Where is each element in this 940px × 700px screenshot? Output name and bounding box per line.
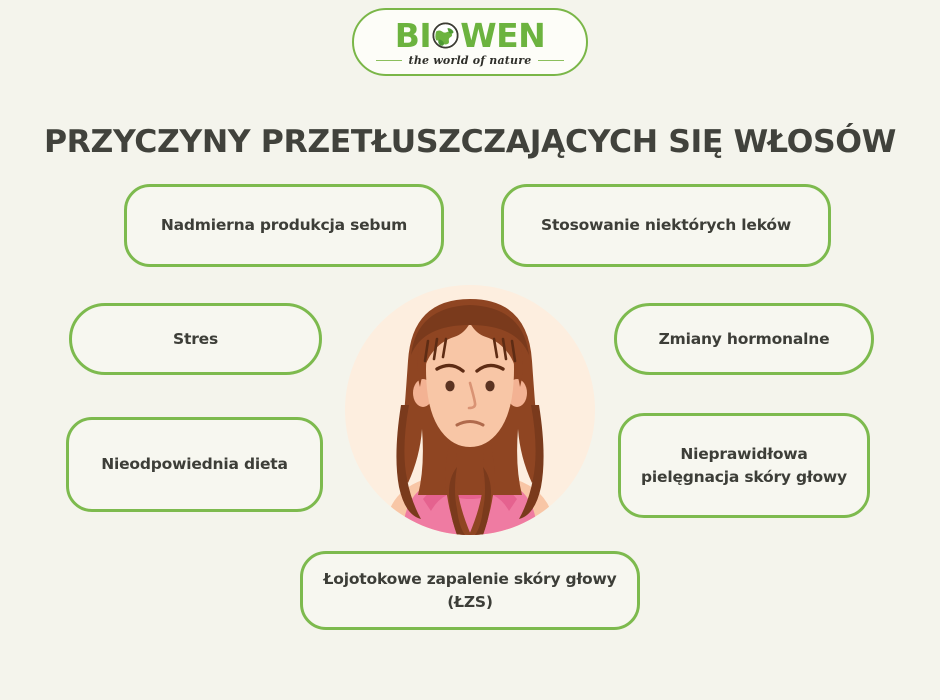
- cause-label: Nieodpowiednia dieta: [101, 453, 288, 475]
- cause-box-dieta: Nieodpowiednia dieta: [66, 417, 323, 512]
- eye-left: [445, 381, 454, 392]
- cause-label: Stres: [173, 328, 218, 350]
- cause-box-pielegnacja: Nieprawidłowa pielęgnacja skóry głowy: [618, 413, 870, 518]
- eye-right: [485, 381, 494, 392]
- cause-box-leki: Stosowanie niektórych leków: [501, 184, 831, 267]
- cause-box-hormony: Zmiany hormonalne: [614, 303, 874, 375]
- cause-box-sebum: Nadmierna produkcja sebum: [124, 184, 444, 267]
- cause-label: Zmiany hormonalne: [659, 328, 830, 350]
- logo-text-after-globe: WEN: [460, 19, 545, 52]
- cause-box-lzs: Łojotokowe zapalenie skóry głowy (ŁZS): [300, 551, 640, 630]
- cause-label: Łojotokowe zapalenie skóry głowy (ŁZS): [317, 568, 623, 613]
- logo-wordmark: BI WEN: [395, 18, 546, 52]
- tagline-dash-right: [538, 60, 564, 62]
- woman-portrait-svg: [345, 285, 595, 535]
- cause-label: Stosowanie niektórych leków: [541, 214, 791, 236]
- cause-label: Nadmierna produkcja sebum: [161, 214, 407, 236]
- logo-tagline: the world of nature: [409, 54, 532, 67]
- tagline-dash-left: [376, 60, 402, 62]
- globe-icon: [432, 22, 459, 49]
- logo-tagline-row: the world of nature: [354, 54, 586, 67]
- logo-container: BI WEN the world of nature: [352, 8, 588, 76]
- cause-box-stres: Stres: [69, 303, 322, 375]
- cause-label: Nieprawidłowa pielęgnacja skóry głowy: [635, 443, 853, 488]
- worried-woman-illustration: [345, 285, 595, 535]
- biowen-logo: BI WEN the world of nature: [352, 8, 588, 76]
- logo-text-before-globe: BI: [395, 19, 431, 52]
- page-title: PRZYCZYNY PRZETŁUSZCZAJĄCYCH SIĘ WŁOSÓW: [0, 125, 940, 160]
